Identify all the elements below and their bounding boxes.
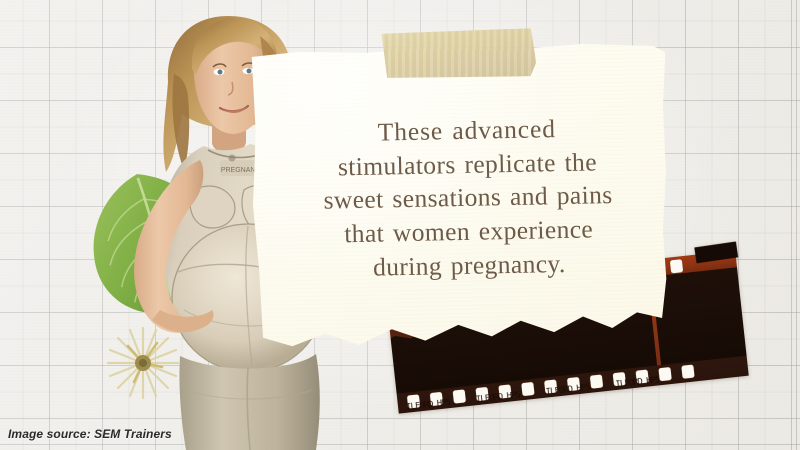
quote-line: that women experience bbox=[294, 211, 643, 251]
image-source-caption: Image source: SEM Trainers bbox=[8, 427, 172, 441]
quote-text: These advanced stimulators replicate the… bbox=[292, 111, 643, 286]
paper-note-card: These advanced stimulators replicate the… bbox=[249, 40, 671, 350]
sprocket-hole bbox=[670, 259, 683, 273]
masking-tape bbox=[381, 28, 536, 80]
quote-line: during pregnancy. bbox=[295, 245, 644, 285]
screenshot-canvas: ILFORD HP5 ILFORD HP5 ILFORD HP5 ILFORD … bbox=[0, 0, 800, 450]
